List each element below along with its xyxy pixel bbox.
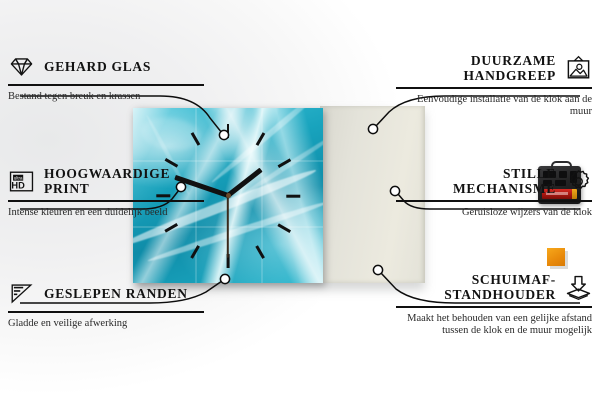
feature-schuimafstandhouder: SCHUIMAF- STANDHOUDER Maakt het behouden… bbox=[396, 272, 592, 338]
divider bbox=[8, 311, 204, 313]
foam-spacer-icon bbox=[565, 274, 592, 301]
feature-description: Eenvoudige installatie van de klok aan d… bbox=[396, 94, 592, 119]
feature-title: HOOGWAARDIGE PRINT bbox=[44, 166, 204, 196]
connector-dot-duurzame-handgreep bbox=[368, 124, 377, 133]
divider bbox=[396, 87, 592, 89]
connector-dot-schuimafstandhouder bbox=[373, 265, 382, 274]
connector-dot-gehard-glas bbox=[219, 130, 228, 139]
connector-dot-geslepen-randen bbox=[220, 274, 229, 283]
feature-title: GESLEPEN RANDEN bbox=[44, 286, 204, 301]
beveled-edges-icon bbox=[8, 280, 35, 307]
feature-hoogwaardige-print: ultra HD HOOGWAARDIGE PRINT Intense kleu… bbox=[8, 166, 204, 219]
feature-description: Gladde en veilige afwerking bbox=[8, 318, 204, 331]
svg-text:HD: HD bbox=[11, 180, 25, 190]
feature-gehard-glas: GEHARD GLAS Bestand tegen breuk en krass… bbox=[8, 53, 204, 103]
divider bbox=[396, 306, 592, 308]
diamond-icon bbox=[8, 53, 35, 80]
feature-title: GEHARD GLAS bbox=[44, 59, 204, 74]
product-infographic: GEHARD GLAS Bestand tegen breuk en krass… bbox=[0, 0, 600, 400]
feature-geslepen-randen: GESLEPEN RANDEN Gladde en veilige afwerk… bbox=[8, 280, 204, 330]
feature-description: Geruisloze wijzers van de klok bbox=[396, 207, 592, 220]
feature-description: Intense kleuren en een duidelijk beeld bbox=[8, 207, 204, 220]
divider bbox=[396, 200, 592, 202]
feature-duurzame-handgreep: DUURZAME HANDGREEP Eenvoudige installati… bbox=[396, 53, 592, 119]
divider bbox=[8, 84, 204, 86]
divider bbox=[8, 200, 204, 202]
feature-title: STILLE MECHANISME bbox=[396, 166, 556, 196]
ultra-hd-icon: ultra HD bbox=[8, 168, 35, 195]
feature-title: DUURZAME HANDGREEP bbox=[396, 53, 556, 83]
feature-title: SCHUIMAF- STANDHOUDER bbox=[396, 272, 556, 302]
hanging-picture-icon bbox=[565, 55, 592, 82]
feature-description: Bestand tegen breuk en krassen bbox=[8, 91, 204, 104]
gear-icon bbox=[565, 168, 592, 195]
feature-description: Maakt het behouden van een gelijke afsta… bbox=[396, 313, 592, 338]
feature-stille-mechanisme: STILLE MECHANISME Geruisloze wijzers van… bbox=[396, 166, 592, 219]
